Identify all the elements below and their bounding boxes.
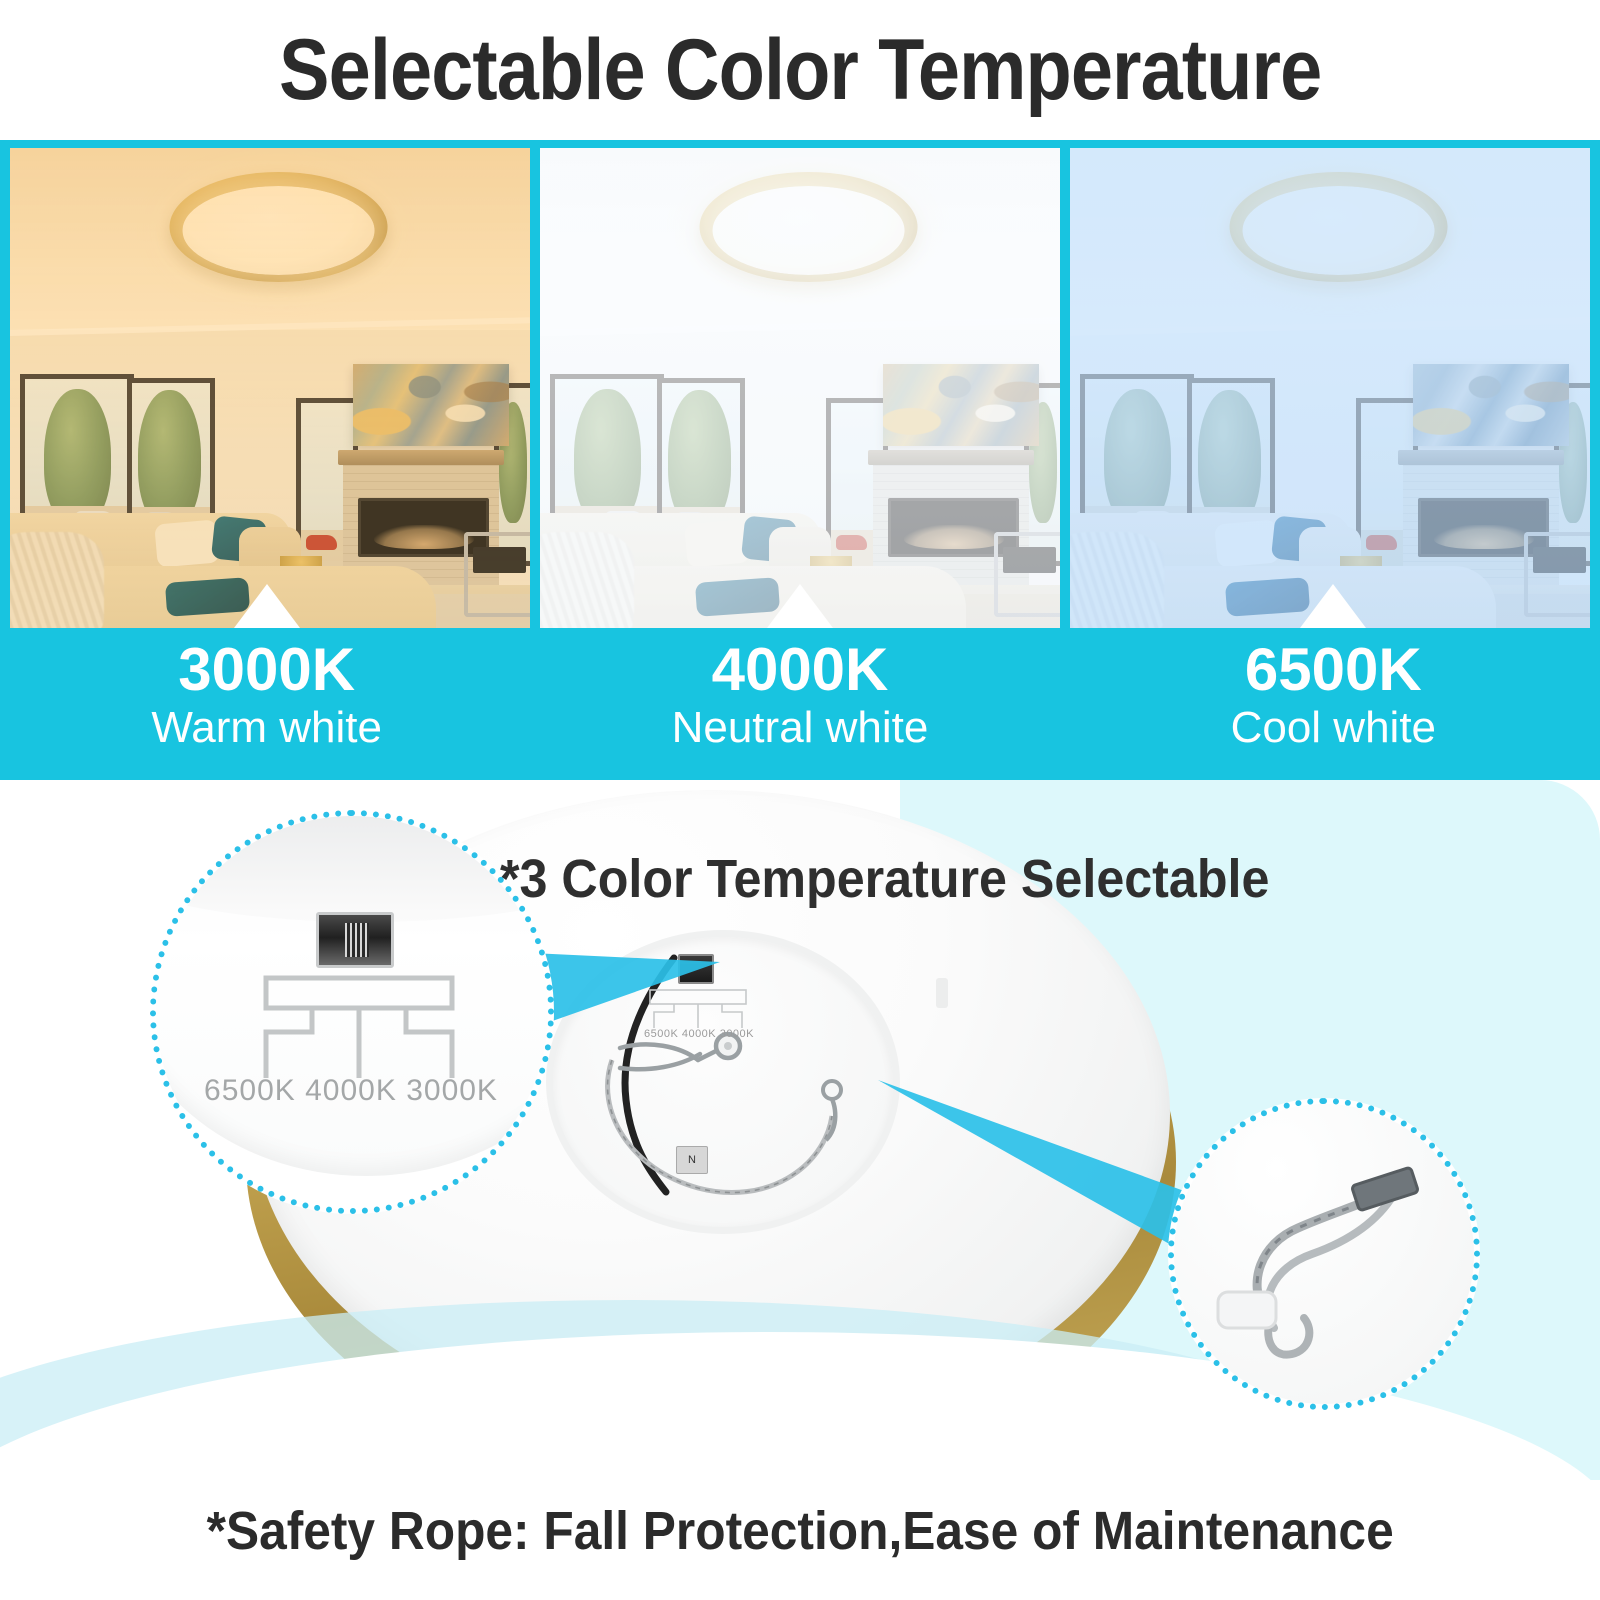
label-3000k: 3000K Warm white bbox=[0, 628, 533, 790]
wall-artwork bbox=[353, 364, 509, 446]
infographic-root: Selectable Color Temperature bbox=[0, 0, 1600, 1600]
mid-section-title: *3 Color Temperature Selectable bbox=[500, 842, 1356, 916]
label-4000k: 4000K Neutral white bbox=[533, 628, 1066, 790]
neutral-wire-label: N bbox=[676, 1146, 708, 1174]
dip-switch-zoomed bbox=[316, 912, 394, 968]
header: Selectable Color Temperature bbox=[0, 0, 1600, 140]
temperature-labels: 3000K Warm white 4000K Neutral white 650… bbox=[0, 628, 1600, 790]
wall-artwork bbox=[1413, 364, 1569, 446]
magnifier-safety-rope bbox=[1168, 1098, 1480, 1410]
ceiling-light-fixture bbox=[170, 172, 388, 282]
kelvin-name: Warm white bbox=[151, 704, 382, 752]
kelvin-value: 6500K bbox=[1245, 640, 1422, 700]
kelvin-name: Neutral white bbox=[672, 704, 929, 752]
magnifier-dip-switch: 6500K 4000K 3000K bbox=[150, 810, 554, 1214]
wall-artwork bbox=[883, 364, 1039, 446]
color-temperature-banner: 3000K Warm white 4000K Neutral white 650… bbox=[0, 140, 1600, 790]
kelvin-name: Cool white bbox=[1231, 704, 1436, 752]
pointer-triangle-icon bbox=[234, 584, 300, 628]
scene-photo-4000k bbox=[540, 148, 1060, 628]
pointer-triangle-icon bbox=[1300, 584, 1366, 628]
scene-photo-strip bbox=[10, 148, 1590, 628]
label-6500k: 6500K Cool white bbox=[1067, 628, 1600, 790]
dip-switch-diagram-zoomed-icon bbox=[234, 974, 484, 1084]
pointer-triangle-icon bbox=[767, 584, 833, 628]
callout-wedge-rope bbox=[878, 1074, 1208, 1264]
dip-switch-caption-large: 6500K 4000K 3000K bbox=[186, 1074, 516, 1108]
bottom-section-title: *Safety Rope: Fall Protection,Ease of Ma… bbox=[0, 1496, 1600, 1566]
kelvin-value: 3000K bbox=[178, 640, 355, 700]
scene-photo-6500k bbox=[1070, 148, 1590, 628]
bottom-section-title-text: *Safety Rope: Fall Protection,Ease of Ma… bbox=[206, 1496, 1393, 1566]
kelvin-value: 4000K bbox=[712, 640, 889, 700]
safety-rope-hook-icon bbox=[1194, 1132, 1464, 1372]
ceiling-light-fixture bbox=[1230, 172, 1448, 282]
ceiling-light-fixture bbox=[700, 172, 918, 282]
page-title: Selectable Color Temperature bbox=[279, 21, 1321, 120]
scene-photo-3000k bbox=[10, 148, 530, 628]
